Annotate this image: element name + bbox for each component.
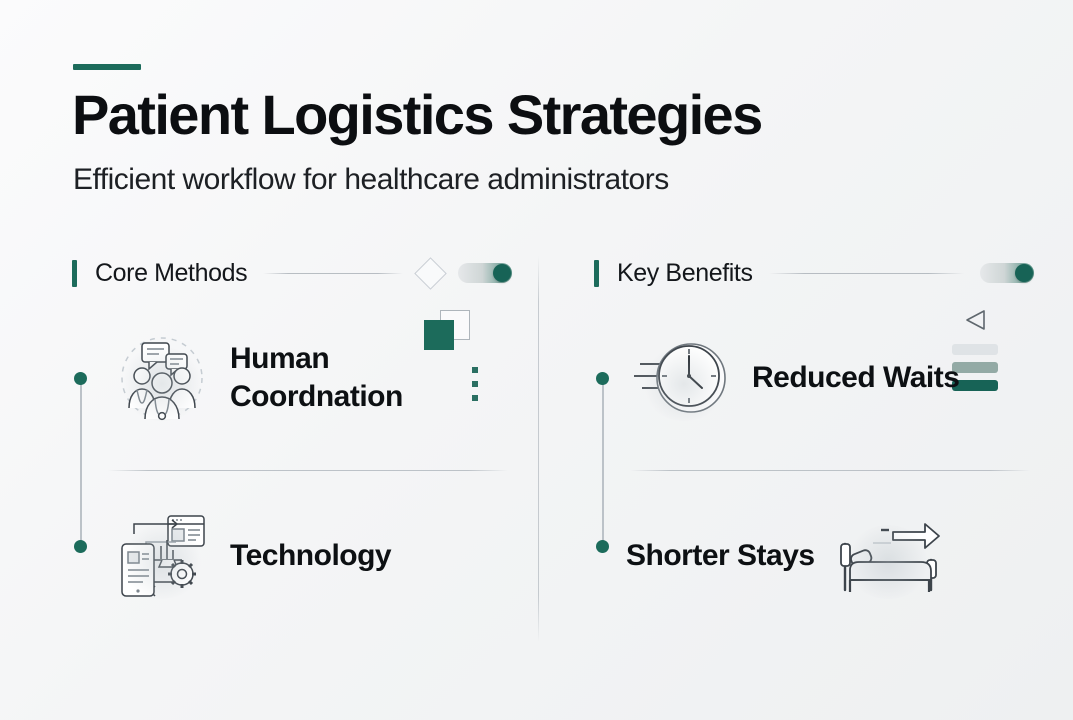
- list-item[interactable]: Technology: [110, 502, 391, 610]
- column-divider: [538, 256, 539, 642]
- rail-dot-1: [596, 372, 609, 385]
- toggle-switch-key-benefits[interactable]: [980, 263, 1034, 283]
- timeline-rail-left: [74, 372, 88, 552]
- rail-dot-2: [596, 540, 609, 553]
- dot: [472, 395, 478, 401]
- dot: [472, 367, 478, 373]
- rail-line: [80, 379, 82, 547]
- fast-clock-icon: [632, 326, 736, 430]
- section-header-key-benefits: Key Benefits: [594, 252, 1034, 294]
- list-item[interactable]: Reduced Waits: [632, 324, 959, 432]
- column-core-methods: Core Methods: [72, 252, 512, 294]
- section-title: Core Methods: [95, 259, 247, 288]
- item-separator: [108, 470, 508, 471]
- slide-root: Patient Logistics Strategies Efficient w…: [0, 0, 1073, 720]
- section-title: Key Benefits: [617, 259, 753, 288]
- column-key-benefits: Key Benefits: [594, 252, 1034, 294]
- section-accent-bar: [72, 260, 77, 287]
- dot: [472, 381, 478, 387]
- list-item-label: Reduced Waits: [752, 359, 959, 397]
- rail-dot-2: [74, 540, 87, 553]
- section-rule: [263, 273, 403, 274]
- section-rule: [769, 273, 964, 274]
- healthcare-team-icon: [110, 326, 214, 430]
- toggle-switch-core-methods[interactable]: [458, 263, 512, 283]
- diamond-icon: [414, 257, 447, 290]
- section-header-core-methods: Core Methods: [72, 252, 512, 294]
- page-subtitle: Efficient workflow for healthcare admini…: [73, 163, 669, 197]
- rail-dot-1: [74, 372, 87, 385]
- item-separator: [630, 470, 1030, 471]
- list-item-label: Technology: [230, 537, 391, 575]
- toggle-knob: [493, 264, 511, 282]
- list-item-label: Shorter Stays: [626, 537, 815, 575]
- top-accent-bar: [73, 64, 141, 70]
- page-title: Patient Logistics Strategies: [72, 85, 762, 145]
- section-accent-bar: [594, 260, 599, 287]
- list-item-label: Human Coordnation: [230, 340, 460, 416]
- list-item[interactable]: Human Coordnation: [110, 324, 460, 432]
- toggle-knob: [1015, 264, 1033, 282]
- list-item[interactable]: Shorter Stays: [626, 502, 943, 610]
- more-options-icon[interactable]: [472, 367, 478, 401]
- tablet-dashboard-gear-icon: [110, 504, 214, 608]
- hospital-bed-arrow-icon: [833, 510, 943, 602]
- rail-line: [602, 379, 604, 547]
- timeline-rail-right: [596, 372, 610, 552]
